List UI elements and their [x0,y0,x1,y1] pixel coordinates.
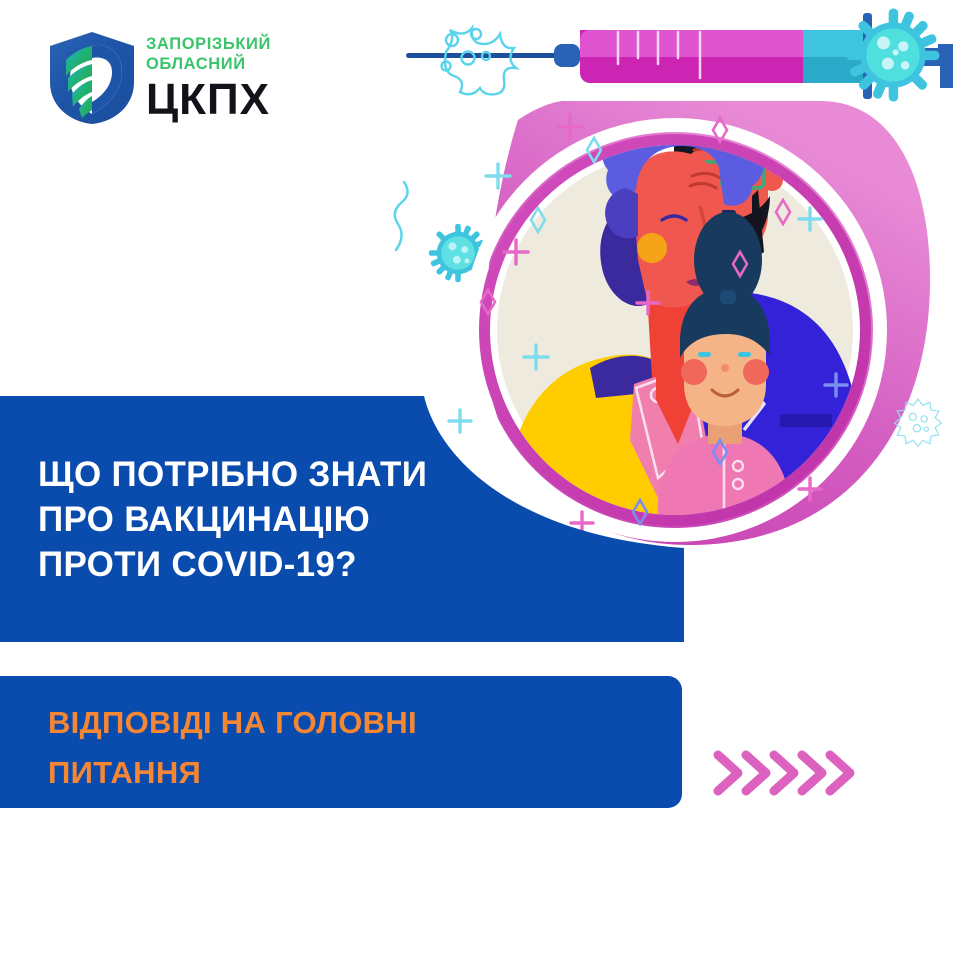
shield-heart-logo-icon [46,30,138,126]
subtitle-line-2: ПИТАННЯ [48,748,648,798]
logo-line-2: ОБЛАСНИЙ [146,54,346,74]
squiggle-line [395,182,408,250]
virus-outline-large [442,28,517,94]
organization-logo: ЗАПОРІЗЬКИЙ ОБЛАСНИЙ ЦКПХ [46,28,346,128]
subtitle-text: ВІДПОВІДІ НА ГОЛОВНІ ПИТАННЯ [48,698,648,798]
logo-wordmark: ЗАПОРІЗЬКИЙ ОБЛАСНИЙ ЦКПХ [146,34,346,124]
headline-line-1: ЩО ПОТРІБНО ЗНАТИ [38,452,638,497]
logo-acronym: ЦКПХ [146,76,346,124]
subtitle-bar: ВІДПОВІДІ НА ГОЛОВНІ ПИТАННЯ [0,676,682,808]
headline-line-3: ПРОТИ COVID-19? [38,542,638,587]
subtitle-line-1: ВІДПОВІДІ НА ГОЛОВНІ [48,698,648,748]
virus-filled-large [847,9,940,102]
headline-line-2: ПРО ВАКЦИНАЦІЮ [38,497,638,542]
chevron-right-arrows [712,745,872,801]
page-title: ЩО ПОТРІБНО ЗНАТИ ПРО ВАКЦИНАЦІЮ ПРОТИ C… [38,452,638,587]
logo-line-1: ЗАПОРІЗЬКИЙ [146,34,346,54]
headline-panel: ЩО ПОТРІБНО ЗНАТИ ПРО ВАКЦИНАЦІЮ ПРОТИ C… [0,396,684,642]
poster-canvas: ЗАПОРІЗЬКИЙ ОБЛАСНИЙ ЦКПХ ЩО ПОТРІБНО ЗН… [0,0,960,960]
